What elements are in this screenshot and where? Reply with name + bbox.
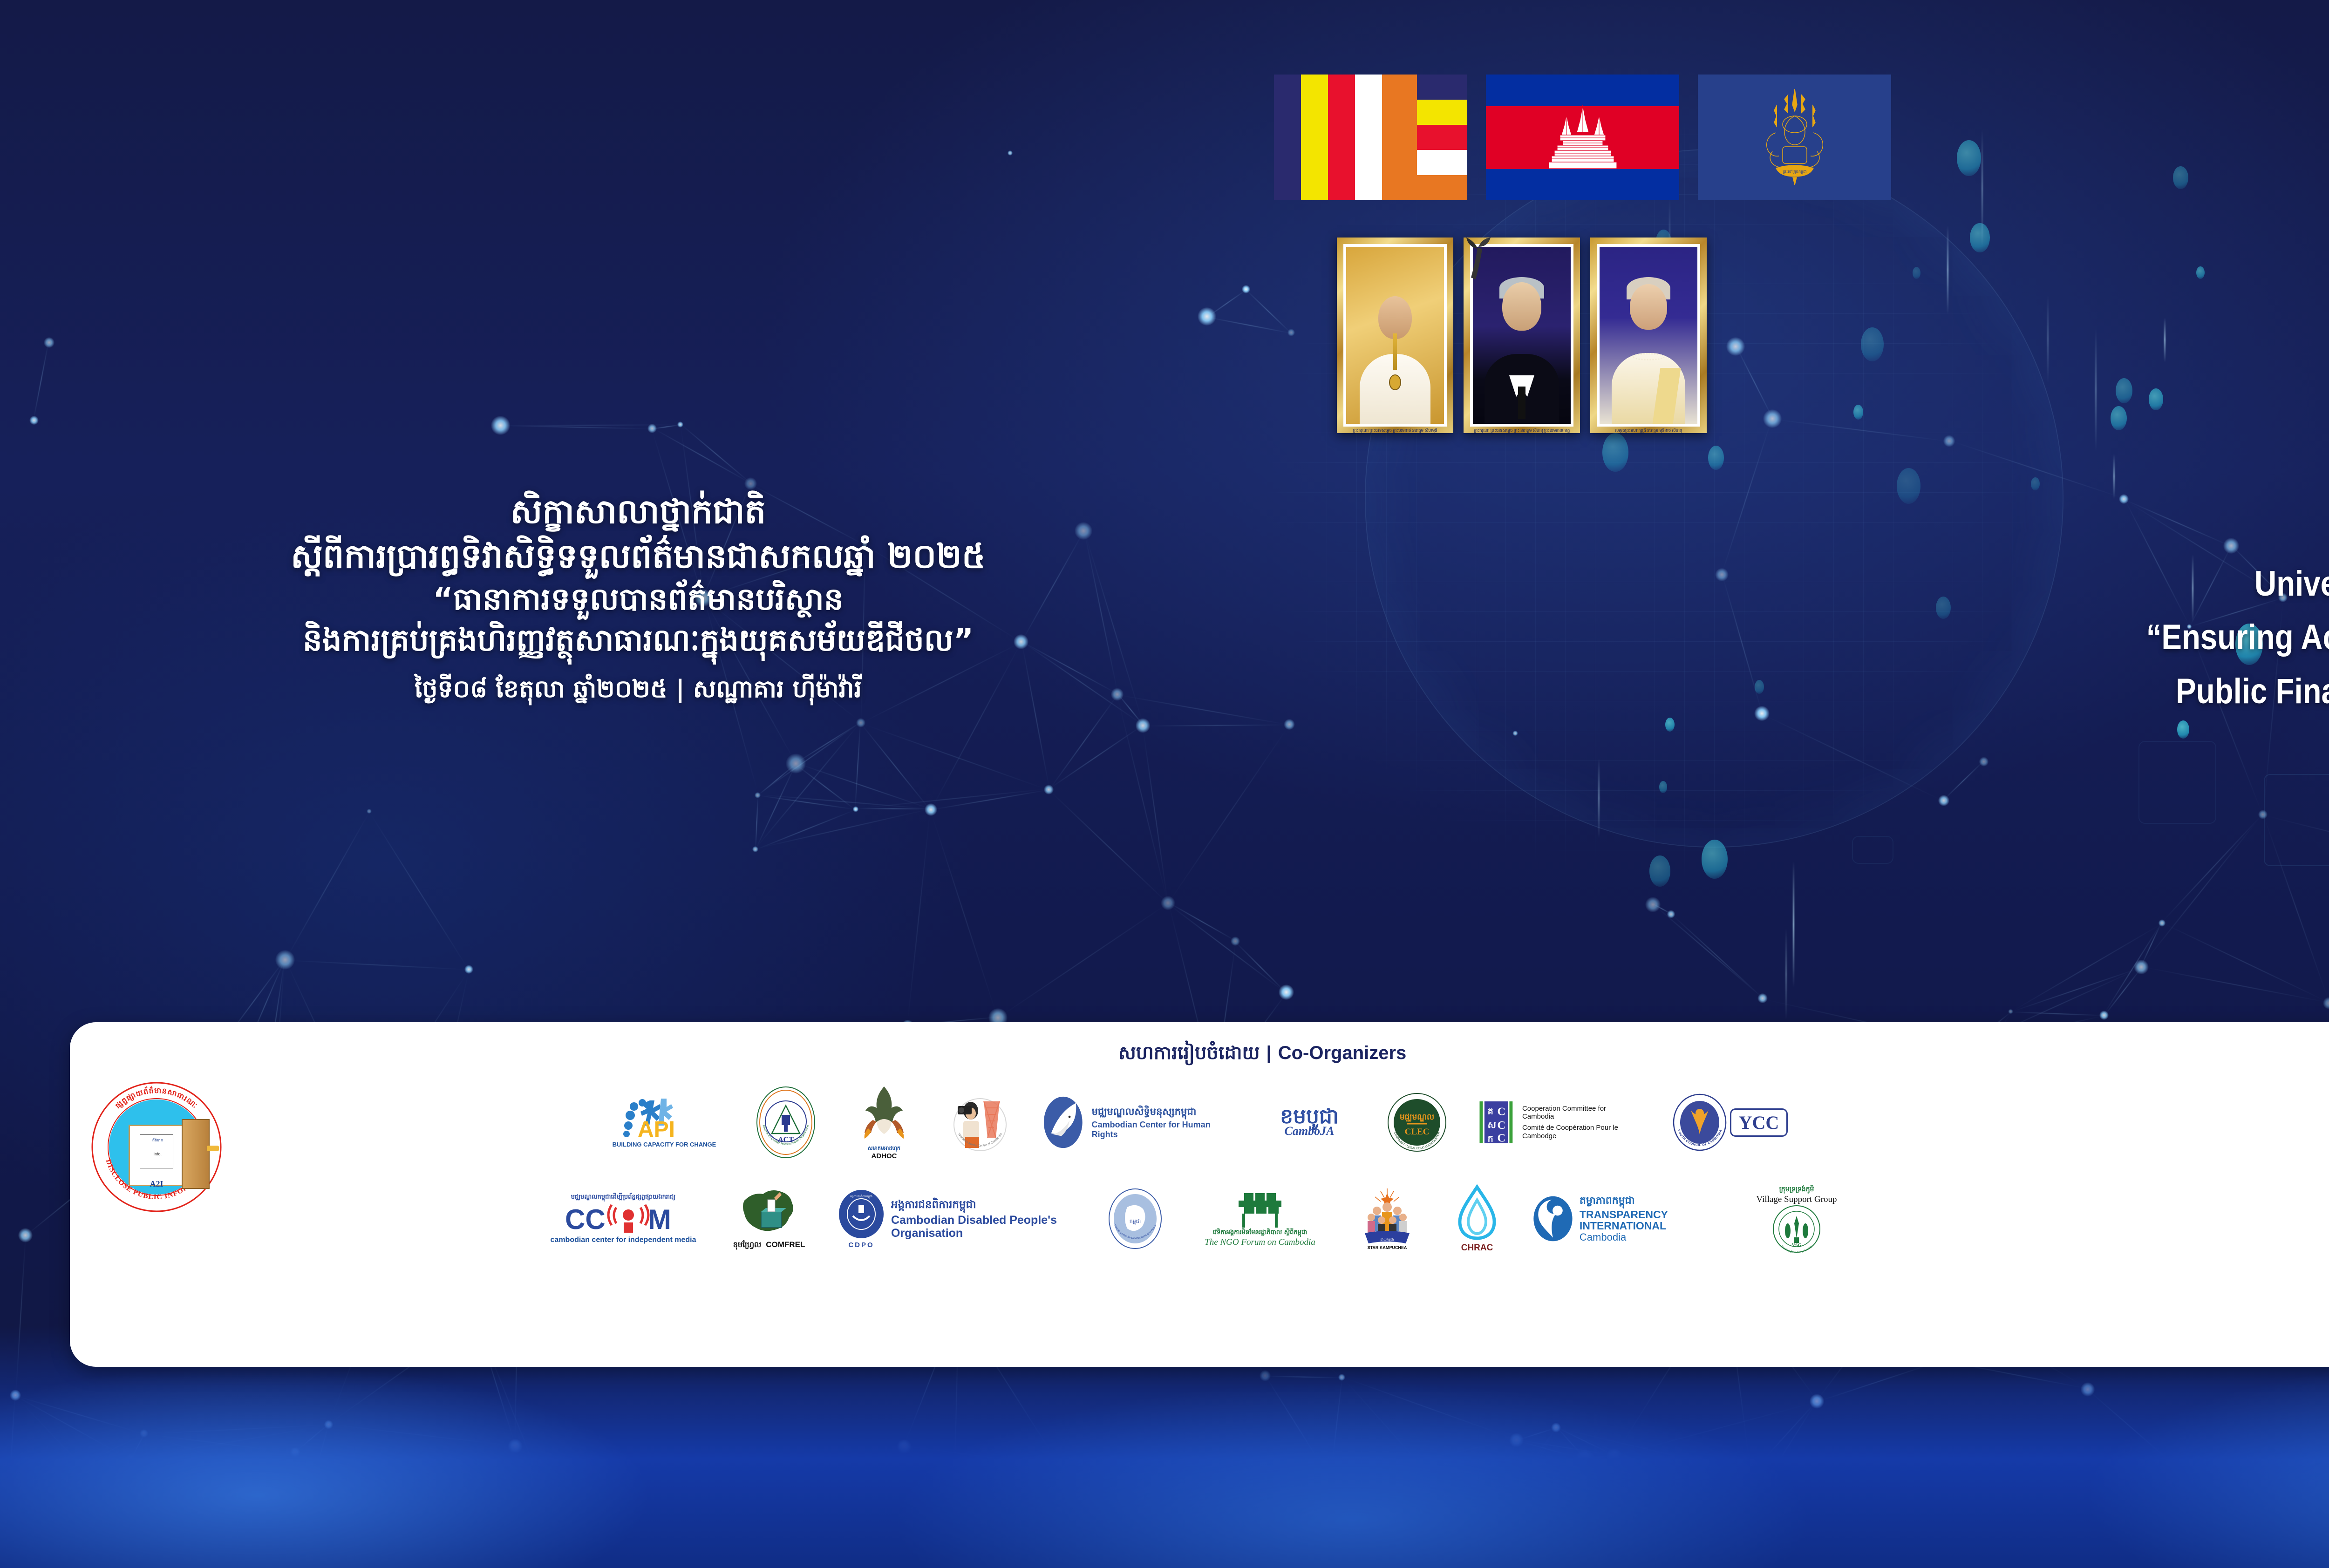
logo-wmc: Women's Media Centre of Cambodia [945, 1092, 1015, 1153]
clec-abbr: CLEC [1405, 1127, 1430, 1137]
svg-text:គ: គ [1488, 1106, 1493, 1117]
co-organizers-heading: សហការរៀបចំដោយ | Co-Organizers [84, 1041, 2152, 1068]
ccc-mark-icon: គ C ស C ក C [1478, 1096, 1517, 1148]
funder-logo-row-1: សហភាពអឺរ៉ុប European Union [2161, 1073, 2329, 1166]
english-title-block: National Workshop for Universal Access t… [1928, 503, 2329, 774]
api-tagline: BUILDING CAPACITY FOR CHANGE [613, 1141, 716, 1148]
mourning-ribbon-icon [1462, 235, 1496, 279]
buddhist-flag [1274, 75, 1467, 200]
pdp-seal-icon: កម្ពុជា People Center for Development an… [1108, 1188, 1163, 1250]
vsg-khmer: ក្រុមទ្រទ្រង់ភូមិ [1779, 1185, 1814, 1195]
logo-cdpo: អង្គការជនពិការកម្ពុជា CDPO អង្គការជនពិកា… [838, 1189, 1080, 1249]
co-organizers-heading-english: Co-Organizers [1278, 1043, 1407, 1063]
a2i-abbr: A2I [87, 1179, 226, 1189]
logo-clec: មជ្ឈមណ្ឌល CLEC COMMUNITY LEGAL EDUCATION… [1382, 1093, 1452, 1152]
ccim-khmer: មជ្ឈមណ្ឌលកម្ពុជាដើម្បីប្រព័ន្ធផ្សព្វផ្សា… [571, 1193, 676, 1202]
ccim-tagline: cambodian center for independent media [551, 1236, 696, 1244]
vsg-abbr: VSG [1792, 1243, 1802, 1248]
co-funders-section: សហការគាំទ្រថវិកាដោយ | Co-Funded by [2157, 1022, 2329, 1367]
transparency-international-mark-icon [1532, 1190, 1574, 1247]
co-organizers-heading-separator: | [1267, 1043, 1272, 1063]
cdpo-abbr: CDPO [848, 1241, 874, 1249]
svg-text:ក: ក [1488, 1134, 1493, 1144]
adhoc-abbr: ADHOC [872, 1153, 897, 1160]
vsg-seal-icon: VSG Working for a Fairer Society [1771, 1205, 1822, 1253]
portrait-caption-3: សម្តេចព្រះមហាក្សត្រី នរោត្តម មុនីនាថ សីហ… [1590, 428, 1707, 434]
english-title-line-4: Public Financial Management in the Digit… [2012, 665, 2329, 719]
portrait-king-father-norodom-sihanouk: ព្រះករុណា ព្រះបាទសម្តេច ព្រះ នរោត្តម សីហ… [1464, 238, 1580, 433]
logo-comfrel: ខុមហ្វ្រែល COMFREL [722, 1187, 816, 1251]
english-title-line-1: National Workshop for [2012, 503, 2329, 557]
vsg-tagline: Village Support Group [1756, 1195, 1837, 1205]
logo-ngo-forum: វេទិកាអង្គការមិនមែនរដ្ឋាភិបាល ស្តីពីកម្ព… [1190, 1190, 1330, 1248]
logo-village-support-group: ក្រុមទ្រទ្រង់ភូមិ Village Support Group … [1750, 1185, 1843, 1253]
flag-row: ព្រះចៅក្រុងកម្ពុជា [1274, 75, 1891, 200]
svg-text:ស: ស [1488, 1120, 1496, 1130]
logo-transparency-international: តម្លាភាពកម្ពុជា TRANSPARENCY INTERNATION… [1532, 1190, 1728, 1247]
portrait-caption-1: ព្រះករុណា ព្រះបាទសម្តេច ព្រះបរមនាថ នរោត្… [1337, 428, 1453, 434]
banner-canvas: ព្រះចៅក្រុងកម្ពុជា ព្រះករុណា ព្រះបាទសម្ត… [0, 0, 2329, 1568]
logo-star-kampuchea: ផ្កាយកម្ពុជា STAR KAMPUCHEA [1352, 1187, 1422, 1251]
khmer-date-venue: ថ្ងៃទី០៨ ខែតុលា ឆ្នាំ២០២៥ | សណ្ឋាគារ ហ៊ី… [37, 673, 1239, 706]
ccc-tagline-fr: Comité de Coopération Pour le Cambodge [1522, 1124, 1636, 1140]
svg-text:កម្ពុជា: កម្ពុជា [1130, 1218, 1141, 1225]
svg-text:API: API [638, 1117, 675, 1141]
royal-portraits-row: ព្រះករុណា ព្រះបាទសម្តេច ព្រះបរមនាថ នរោត្… [1337, 238, 1707, 433]
cdpo-english: Cambodian Disabled People's Organisation [891, 1214, 1080, 1240]
logo-a2i-disclose-public-information: ផ្សព្វផ្សាយព័ត៌មានសាធារណៈ DISCLOSE PUBLI… [87, 1077, 226, 1217]
logo-act: ACT Alliance for Conflict Transformation… [749, 1085, 823, 1160]
english-date-venue: 08 October, 2025 | Himawari Hotel [1988, 734, 2329, 774]
khmer-title-line-2: ស្តីពីការប្រារព្ធទិវាសិទ្ធិទទួលព័ត៌មានជា… [37, 534, 1239, 578]
logo-ccc: គ C ស C ក C Cooperation Committee for Ca… [1478, 1096, 1636, 1148]
clec-seal-icon: មជ្ឈមណ្ឌល CLEC COMMUNITY LEGAL EDUCATION… [1387, 1093, 1447, 1152]
comfrel-abbr: COMFREL [766, 1240, 805, 1249]
organizer-logo-row-2: មជ្ឈមណ្ឌលកម្ពុជាដើម្បីប្រព័ន្ធផ្សព្វផ្សា… [238, 1174, 2152, 1263]
ngo-forum-khmer: វេទិកាអង្គការមិនមែនរដ្ឋាភិបាល ស្តីពីកម្ព… [1213, 1229, 1308, 1237]
chrac-flame-icon [1453, 1184, 1501, 1245]
comfrel-khmer: ខុមហ្វ្រែល [733, 1240, 762, 1251]
svg-text:M: M [648, 1204, 671, 1235]
portrait-caption-2: ព្រះករុណា ព្រះបាទសម្តេច ព្រះ នរោត្តម សីហ… [1464, 428, 1580, 434]
star-kampuchea-abbr: STAR KAMPUCHEA [1368, 1245, 1407, 1250]
angkor-wat-icon [1539, 102, 1627, 172]
co-organizers-heading-khmer: សហការរៀបចំដោយ [1118, 1042, 1260, 1064]
english-title-line-3: “Ensuring Access to Environmental Inform… [2012, 611, 2329, 665]
logo-pdp-center: កម្ពុជា People Center for Development an… [1103, 1188, 1168, 1250]
a2i-key-icon [207, 1146, 219, 1151]
svg-text:CC: CC [565, 1204, 606, 1235]
royal-arms-icon: ព្រះចៅក្រុងកម្ពុជា [1748, 81, 1841, 193]
khmer-title-block: សិក្ខាសាលាថ្នាក់ជាតិ ស្តីពីការប្រារព្ធទិ… [37, 489, 1239, 706]
ngo-forum-mark-icon [1228, 1190, 1292, 1229]
svg-text:អង្គការជនពិការកម្ពុជា: អង្គការជនពិការកម្ពុជា [850, 1195, 872, 1199]
ti-tagline: Cambodia [1580, 1231, 1728, 1243]
cchr-english: Cambodian Center for Human Rights [1092, 1120, 1237, 1140]
logo-adhoc: សមាគមអាដហុក ADHOC [849, 1085, 919, 1160]
adhoc-mark-icon [856, 1085, 912, 1145]
svg-text:C: C [1497, 1119, 1505, 1132]
organizer-logo-row-1: API BUILDING CAPACITY FOR CHANGE ACT [252, 1073, 2152, 1172]
ccc-tagline-en: Cooperation Committee for Cambodia [1522, 1105, 1636, 1121]
khmer-title-line-3: “ធានាការទទួលបានព័ត៌មានបរិស្ថាន [37, 579, 1239, 620]
wmc-camera-woman-icon: Women's Media Centre of Cambodia [951, 1092, 1009, 1153]
cambodia-royal-standard: ព្រះចៅក្រុងកម្ពុជា [1698, 75, 1891, 200]
chrac-abbr: CHRAC [1461, 1243, 1493, 1253]
logo-ycc: YOUTH COUNCIL OF CAMBODIA YCC [1662, 1093, 1798, 1151]
logo-cchr: មជ្ឈមណ្ឌលសិទ្ធិមនុស្សកម្ពុជា Cambodian C… [1041, 1094, 1237, 1150]
co-funded-heading: សហការគាំទ្រថវិកាដោយ | Co-Funded by [2161, 1041, 2329, 1068]
cdpo-seal-icon: អង្គការជនពិការកម្ពុជា [838, 1189, 885, 1241]
camboja-abbr: CamboJA [1285, 1124, 1335, 1138]
logo-api: API BUILDING CAPACITY FOR CHANGE [606, 1097, 722, 1148]
adhoc-khmer: សមាគមអាដហុក [868, 1145, 900, 1153]
a2i-door-label-khmer: ព័ត៌មាន [141, 1138, 175, 1143]
a2i-door-panel [182, 1119, 210, 1189]
partners-panel: សហការរៀបចំដោយ | Co-Organizers ផ្សព្វផ្សា… [70, 1022, 2329, 1367]
api-mark-icon: API [621, 1097, 708, 1141]
a2i-door-label-english: Info. [141, 1152, 175, 1156]
ycc-abbr: YCC [1739, 1112, 1779, 1133]
cdpo-khmer: អង្គការជនពិការកម្ពុជា [891, 1198, 1080, 1214]
logo-ccim: មជ្ឈមណ្ឌលកម្ពុជាដើម្បីប្រព័ន្ធផ្សព្វផ្សា… [546, 1193, 700, 1244]
ti-khmer: តម្លាភាពកម្ពុជា [1580, 1194, 1728, 1209]
cchr-khmer: មជ្ឈមណ្ឌលសិទ្ធិមនុស្សកម្ពុជា [1092, 1106, 1237, 1120]
svg-text:ផ្កាយកម្ពុជា: ផ្កាយកម្ពុជា [1381, 1238, 1394, 1242]
funder-logo-row-2: OXFAM DCA actalliance [2161, 1173, 2329, 1261]
ccim-wordmark-icon: CC M [565, 1202, 681, 1236]
portrait-king-norodom-sihamoni: ព្រះករុណា ព្រះបាទសម្តេច ព្រះបរមនាថ នរោត្… [1337, 238, 1453, 433]
cchr-dove-icon [1041, 1094, 1085, 1150]
english-title-line-2: Universal Access to Information 2025 [2012, 557, 2329, 611]
logo-chrac: CHRAC [1444, 1184, 1510, 1253]
act-seal-icon: ACT Alliance for Conflict Transformation… [755, 1085, 817, 1160]
khmer-title-line-4: និងការគ្រប់គ្រងហិរញ្ញវត្ថុសាធារណៈក្នុងយុ… [37, 620, 1239, 661]
ngo-forum-english: The NGO Forum on Cambodia [1205, 1237, 1315, 1248]
svg-text:C: C [1497, 1132, 1505, 1144]
comfrel-map-ballot-icon [734, 1187, 804, 1238]
logo-camboja: ខមបូជា CamboJA [1263, 1106, 1356, 1138]
svg-text:C: C [1497, 1105, 1505, 1118]
star-kampuchea-icon: ផ្កាយកម្ពុជា STAR KAMPUCHEA [1358, 1187, 1416, 1251]
co-organizers-section: សហការរៀបចំដោយ | Co-Organizers ផ្សព្វផ្សា… [70, 1022, 2157, 1367]
ycc-seal-icon: YOUTH COUNCIL OF CAMBODIA [1672, 1093, 1727, 1151]
khmer-title-line-1: សិក្ខាសាលាថ្នាក់ជាតិ [37, 489, 1239, 534]
clec-khmer: មជ្ឈមណ្ឌល [1400, 1113, 1434, 1122]
ti-abbr: TRANSPARENCY INTERNATIONAL [1580, 1209, 1728, 1231]
a2i-open-door-icon: ព័ត៌មាន Info. [129, 1125, 184, 1186]
portrait-queen-mother-norodom-monineath: សម្តេចព្រះមហាក្សត្រី នរោត្តម មុនីនាថ សីហ… [1590, 238, 1707, 433]
cambodia-national-flag [1486, 75, 1679, 200]
